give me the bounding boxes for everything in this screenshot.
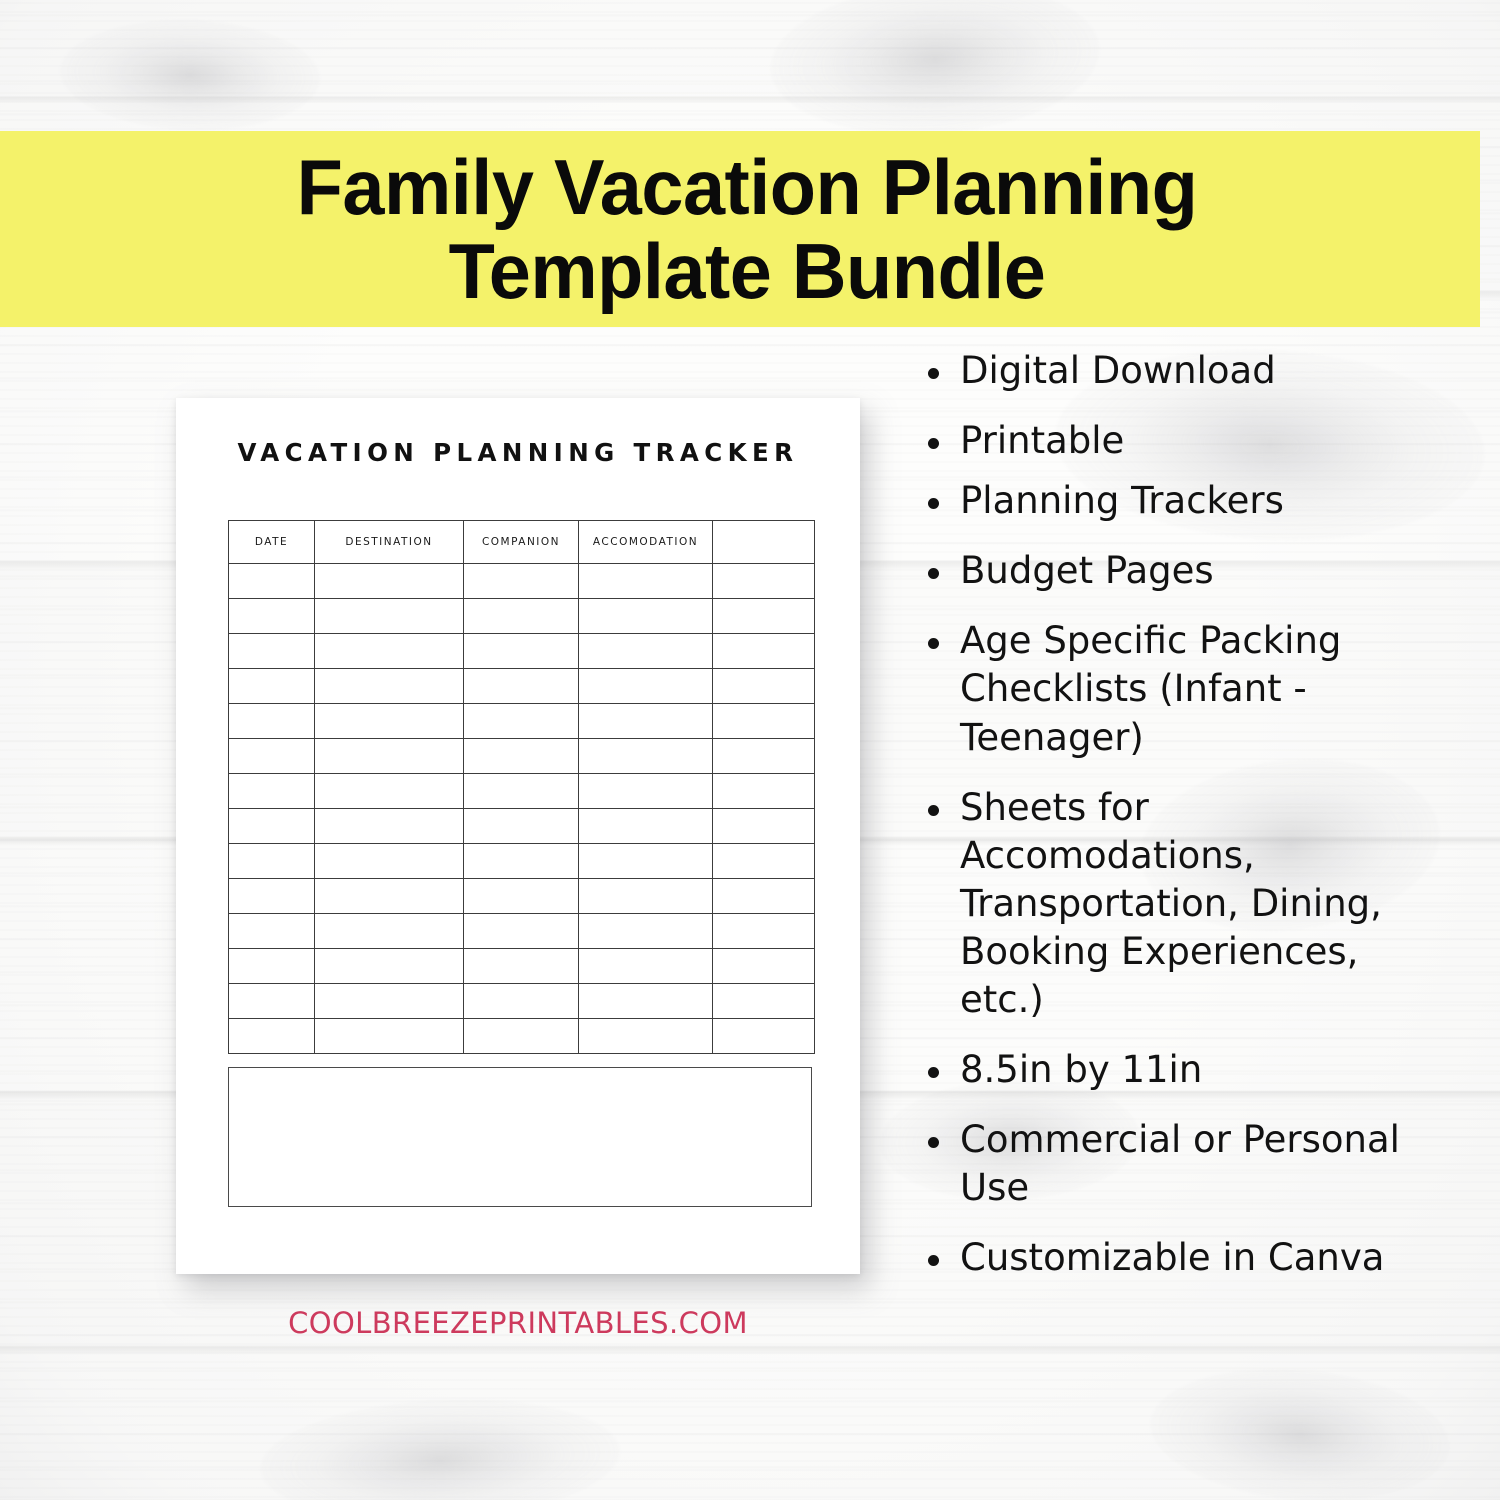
table-cell[interactable] (713, 914, 815, 949)
table-cell[interactable] (315, 774, 464, 809)
table-cell[interactable] (315, 599, 464, 634)
table-cell[interactable] (315, 809, 464, 844)
table-cell[interactable] (579, 984, 713, 1019)
feature-list-item: 8.5in by 11in (916, 1046, 1446, 1094)
table-cell[interactable] (713, 844, 815, 879)
table-cell[interactable] (315, 914, 464, 949)
table-cell[interactable] (579, 564, 713, 599)
table-row (229, 809, 815, 844)
product-listing-image: Family Vacation Planning Template Bundle… (0, 0, 1500, 1500)
table-cell[interactable] (579, 599, 713, 634)
table-row (229, 844, 815, 879)
table-row (229, 669, 815, 704)
column-header-date: DATE (229, 521, 315, 564)
table-cell[interactable] (713, 984, 815, 1019)
table-cell[interactable] (229, 634, 315, 669)
table-cell[interactable] (229, 1019, 315, 1054)
table-cell[interactable] (229, 949, 315, 984)
table-header-row: DATE DESTINATION COMPANION ACCOMODATION (229, 521, 815, 564)
table-cell[interactable] (315, 564, 464, 599)
table-cell[interactable] (579, 879, 713, 914)
feature-list-item: Printable (916, 417, 1446, 465)
table-cell[interactable] (229, 704, 315, 739)
table-cell[interactable] (315, 879, 464, 914)
table-cell[interactable] (579, 634, 713, 669)
table-cell[interactable] (464, 634, 579, 669)
table-cell[interactable] (229, 599, 315, 634)
table-cell[interactable] (315, 669, 464, 704)
table-cell[interactable] (579, 669, 713, 704)
sheet-title: VACATION PLANNING TRACKER (176, 438, 860, 467)
notes-box[interactable] (228, 1067, 812, 1207)
printable-preview-sheet: VACATION PLANNING TRACKER DATE DESTINATI… (176, 398, 860, 1274)
table-cell[interactable] (315, 704, 464, 739)
site-url-watermark: COOLBREEZEPRINTABLES.COM (176, 1306, 860, 1340)
table-row (229, 739, 815, 774)
feature-list-item: Age Specific Packing Checklists (Infant … (916, 617, 1446, 761)
table-cell[interactable] (229, 739, 315, 774)
table-cell[interactable] (315, 984, 464, 1019)
table-cell[interactable] (229, 984, 315, 1019)
column-header-blank (713, 521, 815, 564)
table-cell[interactable] (713, 809, 815, 844)
column-header-accomodation: ACCOMODATION (579, 521, 713, 564)
table-cell[interactable] (229, 774, 315, 809)
table-cell[interactable] (315, 739, 464, 774)
table-cell[interactable] (713, 564, 815, 599)
table-cell[interactable] (579, 774, 713, 809)
table-cell[interactable] (579, 844, 713, 879)
feature-list: Digital DownloadPrintablePlanning Tracke… (916, 347, 1446, 1295)
table-cell[interactable] (464, 809, 579, 844)
title-banner: Family Vacation Planning Template Bundle (0, 131, 1480, 327)
table-cell[interactable] (579, 949, 713, 984)
table-row (229, 949, 815, 984)
table-cell[interactable] (579, 914, 713, 949)
table-cell[interactable] (713, 599, 815, 634)
table-cell[interactable] (713, 739, 815, 774)
table-cell[interactable] (229, 914, 315, 949)
feature-list-item: Planning Trackers (916, 477, 1446, 525)
table-cell[interactable] (713, 634, 815, 669)
table-cell[interactable] (713, 1019, 815, 1054)
table-cell[interactable] (713, 774, 815, 809)
table-cell[interactable] (579, 809, 713, 844)
table-cell[interactable] (315, 634, 464, 669)
table-row (229, 984, 815, 1019)
table-cell[interactable] (464, 704, 579, 739)
table-cell[interactable] (713, 879, 815, 914)
feature-list-item: Budget Pages (916, 547, 1446, 595)
table-body (229, 564, 815, 1054)
table-row (229, 774, 815, 809)
table-cell[interactable] (315, 844, 464, 879)
column-header-destination: DESTINATION (315, 521, 464, 564)
table-row (229, 564, 815, 599)
table-cell[interactable] (229, 879, 315, 914)
table-cell[interactable] (464, 914, 579, 949)
table-cell[interactable] (464, 739, 579, 774)
vacation-planning-table: DATE DESTINATION COMPANION ACCOMODATION (228, 520, 815, 1054)
feature-list-item: Sheets for Accomodations, Transportation… (916, 784, 1446, 1024)
table-cell[interactable] (579, 739, 713, 774)
table-cell[interactable] (315, 949, 464, 984)
table-cell[interactable] (713, 704, 815, 739)
table-cell[interactable] (464, 1019, 579, 1054)
feature-list-item: Customizable in Canva (916, 1234, 1446, 1282)
table-cell[interactable] (229, 809, 315, 844)
table-row (229, 879, 815, 914)
table-cell[interactable] (464, 949, 579, 984)
column-header-companion: COMPANION (464, 521, 579, 564)
table-cell[interactable] (579, 704, 713, 739)
feature-list-item: Digital Download (916, 347, 1446, 395)
table-row (229, 1019, 815, 1054)
table-cell[interactable] (579, 1019, 713, 1054)
table-row (229, 599, 815, 634)
table-cell[interactable] (464, 879, 579, 914)
table-cell[interactable] (229, 564, 315, 599)
table-row (229, 634, 815, 669)
feature-list-item: Commercial or Personal Use (916, 1116, 1446, 1212)
page-title: Family Vacation Planning Template Bundle (204, 145, 1290, 313)
table-cell[interactable] (464, 774, 579, 809)
table-cell[interactable] (713, 949, 815, 984)
table-cell[interactable] (464, 564, 579, 599)
table-cell[interactable] (315, 1019, 464, 1054)
table-cell[interactable] (229, 669, 315, 704)
table-row (229, 914, 815, 949)
table-row (229, 704, 815, 739)
table-cell[interactable] (229, 844, 315, 879)
table-cell[interactable] (464, 984, 579, 1019)
table-cell[interactable] (713, 669, 815, 704)
table-cell[interactable] (464, 844, 579, 879)
table-cell[interactable] (464, 669, 579, 704)
table-header: DATE DESTINATION COMPANION ACCOMODATION (229, 521, 815, 564)
table-cell[interactable] (464, 599, 579, 634)
